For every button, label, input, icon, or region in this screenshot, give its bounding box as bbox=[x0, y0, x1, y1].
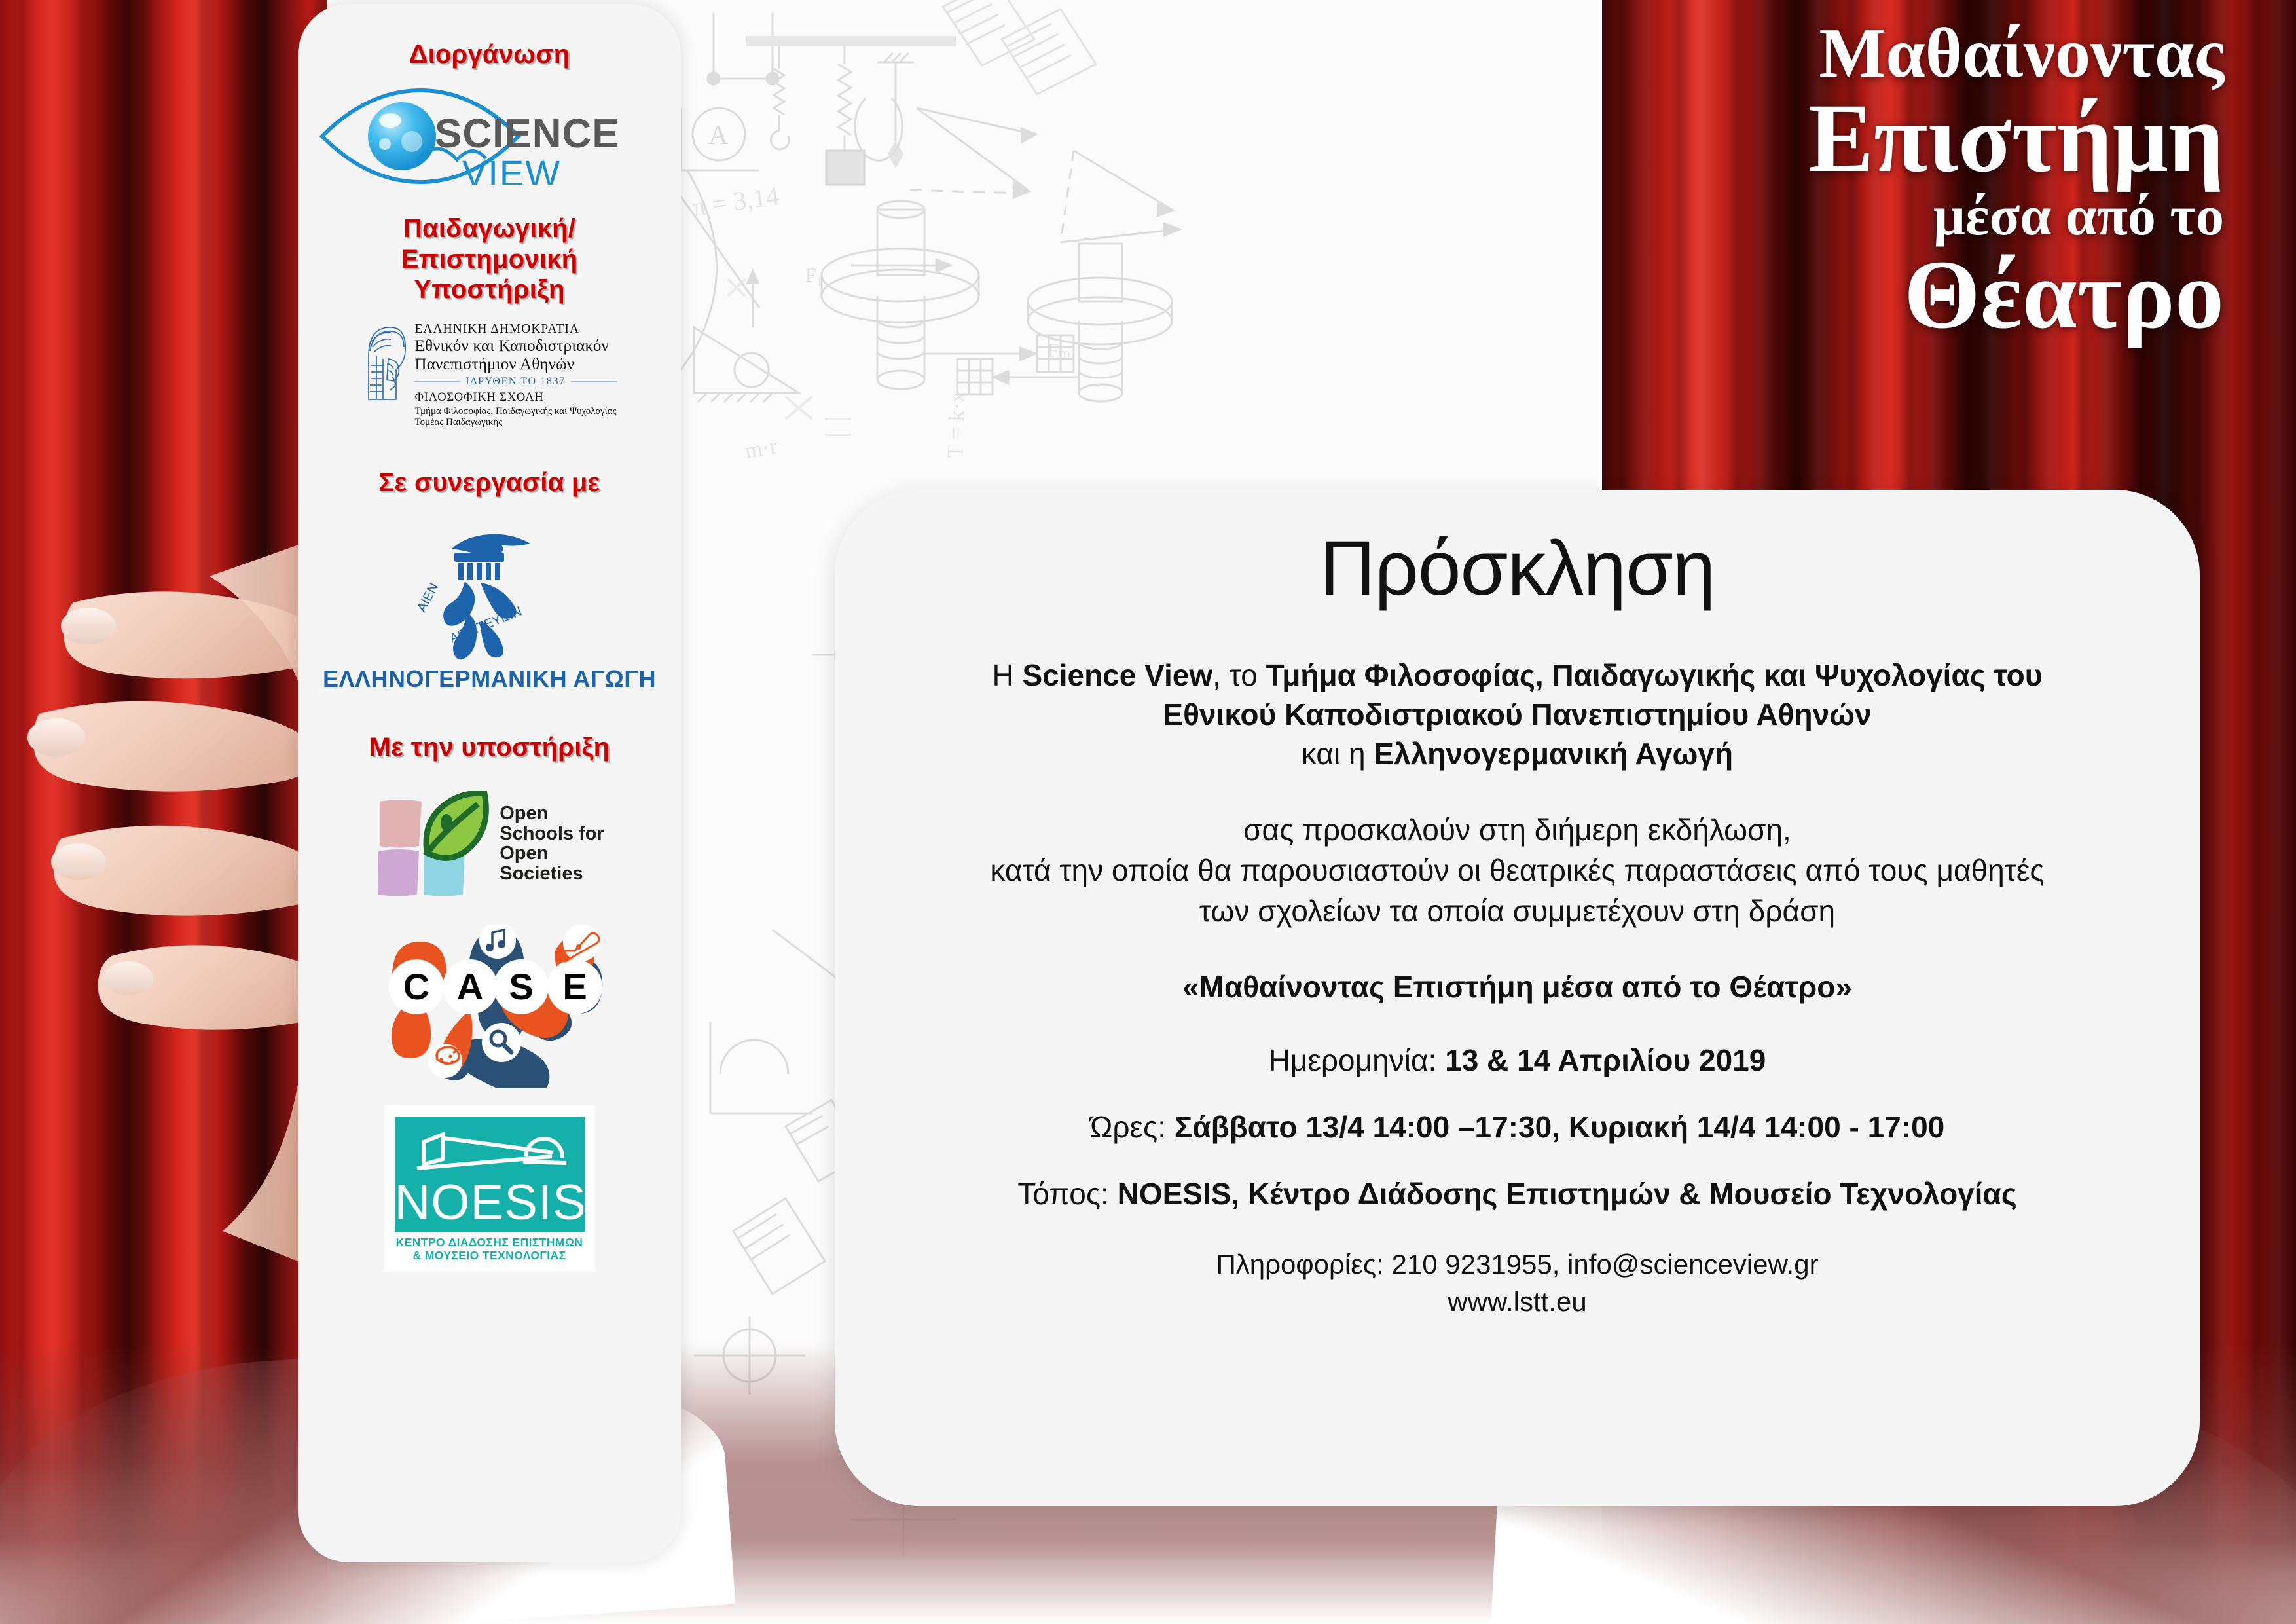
osos-line-4: Societies bbox=[500, 864, 604, 884]
case-logo-icon: C A S E bbox=[359, 925, 621, 1088]
scientific-support-line-1: Παιδαγωγική/ bbox=[401, 213, 577, 244]
invitation-card: Πρόσκληση Η Science View, το Τμήμα Φιλοσ… bbox=[835, 490, 2200, 1506]
noesis-logo-box: NOESIS bbox=[395, 1117, 585, 1232]
scientific-support-heading: Παιδαγωγική/ Επιστημονική Υποστήριξη bbox=[401, 213, 577, 304]
uoa-rule-right bbox=[571, 381, 617, 382]
intro-org-university: Εθνικού Καποδιστριακού Πανεπιστημίου Αθη… bbox=[1163, 697, 1871, 731]
osos-line-3: Open bbox=[500, 843, 604, 864]
noesis-building-icon bbox=[395, 1122, 585, 1179]
intro-mid-2: και η bbox=[1302, 737, 1374, 771]
intro-org-department: Τμήμα Φιλοσοφίας, Παιδαγωγικής και Ψυχολ… bbox=[1266, 658, 2043, 692]
uoa-text-block: ΕΛΛΗΝΙΚΗ ΔΗΜΟΚΡΑΤΙΑ Εθνικόν και Καποδιστ… bbox=[414, 322, 616, 428]
action-title: «Μαθαίνοντας Επιστήμη μέσα από το Θέατρο… bbox=[1182, 969, 1852, 1005]
title-line-1: Μαθαίνοντας bbox=[1569, 18, 2224, 89]
science-view-logo: SCIENCE VIEW bbox=[312, 86, 666, 185]
osos-line-1: Open bbox=[500, 803, 604, 824]
uoa-line-name-2: Πανεπιστήμιον Αθηνών bbox=[414, 356, 616, 374]
case-letter-s: S bbox=[509, 966, 533, 1007]
scientific-support-line-3: Υποστήριξη bbox=[401, 274, 577, 304]
intro-prefix: Η bbox=[992, 658, 1022, 692]
osos-text-block: Open Schools for Open Societies bbox=[500, 803, 604, 884]
noesis-subtitle: ΚΕΝΤΡΟ ΔΙΑΔΟΣΗΣ ΕΠΙΣΤΗΜΩΝ & ΜΟΥΣΕΙΟ ΤΕΧΝ… bbox=[395, 1236, 585, 1262]
uoa-line-name-1: Εθνικόν και Καποδιστριακόν bbox=[414, 337, 616, 356]
svg-text:Fₘ: Fₘ bbox=[1048, 340, 1070, 361]
science-view-logo-icon: SCIENCE VIEW bbox=[319, 86, 660, 185]
svg-text:π = 3,14: π = 3,14 bbox=[691, 181, 781, 222]
svg-text:F₁: F₁ bbox=[805, 265, 823, 286]
sponsors-heading: Με την υποστήριξη bbox=[369, 732, 610, 762]
contact-info-line: Πληροφορίες: 210 9231955, info@sciencevi… bbox=[1216, 1249, 1818, 1280]
uoa-rule-left bbox=[414, 381, 460, 382]
invitation-organizers: Η Science View, το Τμήμα Φιλοσοφίας, Παι… bbox=[992, 656, 2042, 773]
event-hours: Ώρες: Σάββατο 13/4 14:00 –17:30, Κυριακή… bbox=[1090, 1109, 1945, 1145]
event-venue-value: NOESIS, Κέντρο Διάδοσης Επιστημών & Μουσ… bbox=[1118, 1177, 2017, 1211]
svg-text:ΑΙΕΝ: ΑΙΕΝ bbox=[414, 581, 441, 615]
body-line-3: των σχολείων τα οποία συμμετέχουν στη δρ… bbox=[1199, 894, 1835, 928]
event-venue: Τόπος: NOESIS, Κέντρο Διάδοσης Επιστημών… bbox=[1017, 1176, 2017, 1211]
athena-head-icon bbox=[362, 322, 408, 401]
science-view-word-view: VIEW bbox=[462, 153, 561, 185]
intro-org-ega: Ελληνογερμανική Αγωγή bbox=[1374, 737, 1733, 771]
svg-text:T = k·x: T = k·x bbox=[943, 391, 970, 458]
uoa-founded-rule: ΙΔΡΥΘΕΝ ΤΟ 1837 bbox=[414, 376, 616, 388]
noesis-subtitle-line-2: & ΜΟΥΣΕΙΟ ΤΕΧΝΟΛΟΓΙΑΣ bbox=[395, 1249, 585, 1263]
science-view-word-science: SCIENCE bbox=[435, 111, 620, 157]
svg-text:m·r: m·r bbox=[743, 434, 779, 464]
collaboration-heading: Σε συνεργασία με bbox=[378, 468, 600, 498]
intro-mid-1: , το bbox=[1212, 658, 1266, 692]
invitation-heading: Πρόσκληση bbox=[1320, 524, 1715, 613]
event-date: Ημερομηνία: 13 & 14 Απριλίου 2019 bbox=[1269, 1043, 1766, 1078]
osos-leaf-icon bbox=[374, 791, 489, 896]
osos-line-2: Schools for bbox=[500, 824, 604, 844]
event-date-label: Ημερομηνία: bbox=[1269, 1043, 1445, 1077]
sponsors-sidebar: Διοργάνωση SCIENCE VIEW bbox=[298, 4, 681, 1562]
uoa-department: Τμήμα Φιλοσοφίας, Παιδαγωγικής και Ψυχολ… bbox=[414, 406, 616, 417]
body-line-1: σας προσκαλούν στη διήμερη εκδήλωση, bbox=[1243, 813, 1791, 847]
title-line-3: μέσα από το bbox=[1569, 187, 2224, 245]
noesis-wordmark: NOESIS bbox=[395, 1178, 585, 1228]
intro-org-science-view: Science View bbox=[1022, 658, 1212, 692]
contact-website[interactable]: www.lstt.eu bbox=[1448, 1286, 1586, 1317]
ega-name: ΕΛΛΗΝΟΓΕΡΜΑΝΙΚΗ ΑΓΩΓΗ bbox=[323, 665, 656, 693]
case-letter-a: A bbox=[456, 966, 483, 1007]
noesis-subtitle-line-1: ΚΕΝΤΡΟ ΔΙΑΔΟΣΗΣ ΕΠΙΣΤΗΜΩΝ bbox=[395, 1236, 585, 1249]
poster-title: Μαθαίνοντας Επιστήμη μέσα από το Θέατρο bbox=[1569, 18, 2224, 345]
poster-root: A bbox=[0, 0, 2296, 1624]
svg-text:A: A bbox=[708, 120, 729, 151]
event-hours-value: Σάββατο 13/4 14:00 –17:30, Κυριακή 14/4 … bbox=[1175, 1110, 1945, 1144]
scientific-support-line-2: Επιστημονική bbox=[401, 244, 577, 274]
title-line-4: Θέατρο bbox=[1569, 245, 2224, 345]
noesis-logo: NOESIS ΚΕΝΤΡΟ ΔΙΑΔΟΣΗΣ ΕΠΙΣΤΗΜΩΝ & ΜΟΥΣΕ… bbox=[384, 1105, 595, 1271]
uoa-sector: Τομέας Παιδαγωγικής bbox=[414, 417, 616, 428]
case-letter-e: E bbox=[562, 966, 587, 1007]
uoa-school: ΦΙΛΟΣΟΦΙΚΗ ΣΧΟΛΗ bbox=[414, 391, 616, 405]
body-line-2: κατά την οποία θα παρουσιαστούν οι θεατρ… bbox=[990, 853, 2044, 887]
osos-logo: Open Schools for Open Societies bbox=[374, 791, 604, 896]
organizer-heading: Διοργάνωση bbox=[409, 39, 570, 69]
uoa-logo: ΕΛΛΗΝΙΚΗ ΔΗΜΟΚΡΑΤΙΑ Εθνικόν και Καποδιστ… bbox=[358, 322, 620, 428]
title-line-2: Επιστήμη bbox=[1569, 89, 2224, 187]
event-venue-label: Τόπος: bbox=[1017, 1177, 1117, 1211]
uoa-line-hellenic-republic: ΕΛΛΗΝΙΚΗ ΔΗΜΟΚΡΑΤΙΑ bbox=[414, 322, 616, 337]
contact-info: Πληροφορίες: 210 9231955, info@sciencevi… bbox=[1216, 1246, 1818, 1320]
hand-holding-curtain bbox=[13, 498, 321, 1270]
case-letter-c: C bbox=[403, 966, 429, 1007]
ellinogermaniki-agogi-logo-icon: ΑΙΕΝ ΑΡΙΣΤΕΥΕΙΝ bbox=[405, 515, 575, 665]
event-hours-label: Ώρες: bbox=[1090, 1110, 1175, 1144]
event-date-value: 13 & 14 Απριλίου 2019 bbox=[1445, 1043, 1766, 1077]
uoa-founded-year: ΙΔΡΥΘΕΝ ΤΟ 1837 bbox=[465, 376, 565, 388]
invitation-body: σας προσκαλούν στη διήμερη εκδήλωση, κατ… bbox=[990, 810, 2044, 931]
